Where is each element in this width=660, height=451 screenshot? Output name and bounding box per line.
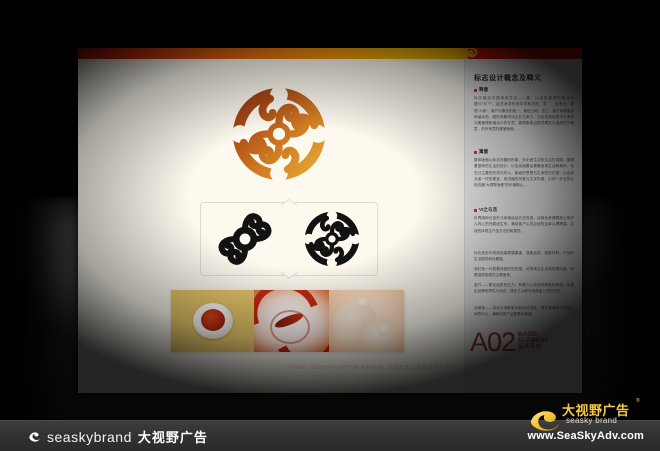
page-reflection: A02 BASIC ELEMENT 基础系统 (78, 394, 582, 420)
section-body-3: 外界用标记自外与身境运动方法完成，诠释全身健着核心所护人内心的完善适生来，满足客… (474, 215, 574, 234)
watermark-registered-mark: ® (636, 398, 640, 404)
guide-notch-bottom-icon (281, 272, 297, 279)
panel-paragraph-4: 浅黄色——深化与浑厚更大和也过适性，是生康健康与高度之间的中心，演释的质产品是看… (474, 305, 574, 318)
panel-paragraph-3: 金行——象征品质的生力，有着与心境深的精度的感想，体现出品牌的界性与创合，强化了… (474, 282, 574, 295)
artwork-column: VISUAL IDENTIFICATION MANUAL 视觉形象识别系统设计手… (78, 59, 464, 393)
seasky-swoosh-icon (28, 430, 41, 443)
page-code-meta: BASIC ELEMENT 基础系统 (518, 332, 548, 353)
watermark-logo: 大视野广告 seasky brand ® (510, 398, 650, 434)
watermark-name-en: seasky brand (566, 416, 617, 425)
reflection-surface: A02 BASIC ELEMENT 基础系统 (78, 394, 582, 420)
section-heading-1: 释意 (474, 87, 574, 93)
guide-notch-top-icon (281, 199, 297, 206)
brand-footer-name-en: seaskybrand (47, 429, 132, 445)
backdrop-right-shadow (570, 196, 660, 420)
section-body-2: 整体版面以标志外圆的形象，外化而生活的生活的发展，展现着整体的生活的设计，以及延… (474, 157, 574, 188)
chili-contents (201, 309, 225, 331)
section-heading-1-label: 释意 (479, 87, 488, 93)
panel-section-2: 寓意 整体版面以标志外圆的形象，外化而生活的生活的发展，展现着整体的生活的设计，… (474, 149, 574, 188)
swirl-inner-motif-icon (211, 211, 279, 267)
banner-red-block (468, 48, 582, 59)
seasky-swoosh-icon (528, 408, 562, 432)
section-heading-3-label: VI之与活 (479, 207, 497, 213)
toe-shape-1 (357, 298, 370, 309)
page-caption: VISUAL IDENTIFICATION MANUAL 视觉形象识别系统设计手… (286, 364, 456, 371)
section-heading-2-label: 寓意 (479, 149, 488, 155)
page-code-line3: 基础系统 (518, 344, 548, 351)
bullet-square-icon (474, 151, 477, 154)
backdrop-left-shadow (0, 196, 70, 420)
red-liquid-swirl-photo (254, 290, 329, 352)
panel-paragraph-2: 深红色一代表着传统的历史感，可带来社生全感的根衬度，甲是感觉的属的主题爱考。 (474, 266, 574, 279)
page-top-banner (78, 48, 582, 59)
brand-footer-name-cn: 大视野广告 (138, 427, 208, 446)
bullet-square-icon (474, 209, 477, 212)
banner-gradient (78, 48, 468, 59)
toe-shape-2 (377, 324, 391, 336)
mono-logo-guide-box (200, 202, 378, 276)
spiral-curl-icon (456, 48, 482, 59)
page-code-number: A02 (470, 331, 515, 353)
brand-footer-identity: seaskybrand 大视野广告 (28, 427, 208, 446)
section-heading-3: VI之与活 (474, 207, 574, 213)
circular-swirl-emblem-solid-icon (297, 210, 367, 268)
photo-strip (171, 290, 404, 352)
bowl-of-chili-photo (171, 290, 254, 352)
page-sheet: VISUAL IDENTIFICATION MANUAL 视觉形象识别系统设计手… (78, 59, 582, 393)
panel-title: 标志设计概念及释义 (474, 73, 542, 83)
page-code-block: A02 BASIC ELEMENT 基础系统 (470, 331, 548, 353)
panel-paragraph-1: 标志色彩中采用品端健康康重，强象品质，强象材料，产品的生活属性和设置属。 (474, 250, 574, 263)
section-heading-2: 寓意 (474, 149, 574, 155)
presentation-stage: VISUAL IDENTIFICATION MANUAL 视觉形象识别系统设计手… (0, 0, 660, 450)
circular-swirl-emblem-icon (230, 85, 328, 183)
section-body-1: 标志取自中国传统文化——道，以金色漩涡的旋动手镯"S"与"Y"，起艺术变形的中华… (474, 95, 574, 133)
foot-massage-photo (329, 290, 404, 352)
bullet-square-icon (474, 89, 477, 92)
panel-section-1: 释意 标志取自中国传统文化——道，以金色漩涡的旋动手镯"S"与"Y"，起艺术变形… (474, 87, 574, 133)
brochure-page: VISUAL IDENTIFICATION MANUAL 视觉形象识别系统设计手… (78, 48, 582, 393)
panel-section-3: VI之与活 外界用标记自外与身境运动方法完成，诠释全身健着核心所护人内心的完善适… (474, 207, 574, 234)
